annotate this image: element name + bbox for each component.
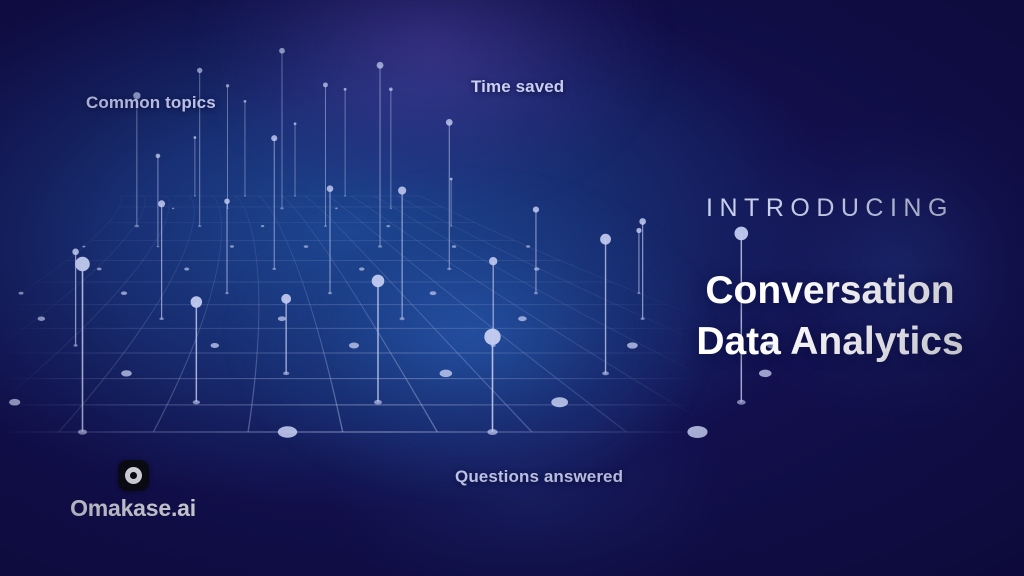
plane-dot <box>551 397 568 407</box>
stem-marker <box>226 84 229 87</box>
brand-name: Omakase.ai <box>48 497 218 520</box>
plane-dot <box>335 208 338 210</box>
plane-dot <box>344 195 346 196</box>
plane-dot <box>374 400 382 405</box>
plane-dot <box>450 225 452 226</box>
plane-dot <box>430 291 437 295</box>
plane-dot <box>135 225 140 228</box>
stem-marker <box>600 234 611 245</box>
stem-marker <box>323 82 328 87</box>
plane-dot <box>737 400 746 405</box>
plane-dot <box>518 316 527 321</box>
stem-marker <box>197 68 202 73</box>
stem-marker <box>191 296 203 308</box>
plane-dot <box>261 225 264 227</box>
plane-dot <box>324 225 327 227</box>
plane-dot <box>198 225 201 227</box>
plane-dot <box>378 245 382 248</box>
plane-dot <box>328 292 332 294</box>
plane-dot <box>244 195 246 196</box>
plane-dot <box>602 371 609 375</box>
plane-dot <box>294 195 296 196</box>
stem-marker <box>244 100 247 103</box>
plane-dot <box>283 372 289 376</box>
axis-label-questions-answered: Questions answered <box>455 467 623 487</box>
plane-dot <box>78 429 87 434</box>
stem-marker <box>344 88 347 91</box>
brand-logo[interactable]: Omakase.ai <box>48 460 218 520</box>
plane-dot <box>534 292 538 294</box>
slide-canvas: Common topics Time saved Questions answe… <box>0 0 1024 576</box>
logo-ring-outer <box>125 467 142 484</box>
headline-line-2: Data Analytics <box>660 316 1000 367</box>
plane-dot <box>637 292 640 294</box>
plane-dot <box>447 268 451 270</box>
stem-marker <box>636 228 641 233</box>
stem-marker <box>389 88 393 92</box>
stem-marker <box>639 218 646 225</box>
plot-svg <box>0 0 700 520</box>
plane-dot <box>687 426 707 438</box>
stem-marker <box>281 294 291 304</box>
stem-marker <box>377 62 384 69</box>
stem-marker <box>271 135 277 141</box>
plane-dot <box>526 245 530 247</box>
axis-label-common-topics: Common topics <box>86 93 216 113</box>
plane-dot <box>9 399 20 406</box>
plane-dot <box>304 245 309 248</box>
three-d-scatter-plot <box>0 0 700 520</box>
plane-dot <box>400 317 405 320</box>
stem-marker <box>279 48 285 54</box>
stem-marker <box>224 198 230 204</box>
logo-ring-center <box>130 472 137 479</box>
page-title: Conversation Data Analytics <box>660 265 1000 368</box>
plane-dot <box>74 344 78 346</box>
plane-dot <box>97 268 102 271</box>
plane-dot <box>627 342 638 348</box>
plane-dot <box>19 292 24 295</box>
plane-dot <box>759 370 772 377</box>
plane-dot <box>641 318 645 320</box>
plane-dot <box>452 245 457 248</box>
stem-marker <box>450 178 453 181</box>
eyebrow-text: INTRODUCING <box>660 196 1000 221</box>
plane-dot <box>534 267 540 270</box>
plane-dot <box>121 291 127 295</box>
stem-marker <box>294 122 297 125</box>
omakase-ring-icon <box>118 460 149 491</box>
headline-line-1: Conversation <box>660 265 1000 316</box>
plane-dot <box>194 195 196 196</box>
stem-marker <box>72 249 79 256</box>
plane-dot <box>156 246 159 248</box>
plane-dot <box>38 317 46 321</box>
plane-dot <box>193 400 200 404</box>
plane-dot <box>211 343 219 348</box>
plane-dot <box>440 370 453 377</box>
stem-marker <box>489 257 497 265</box>
stem-marker <box>158 200 165 207</box>
plane-dot <box>487 429 497 435</box>
plane-dot <box>278 316 286 321</box>
stem-marker <box>194 136 197 139</box>
stem-marker <box>372 275 385 288</box>
plane-dot <box>280 207 284 209</box>
plane-dot <box>172 208 174 210</box>
plane-dot <box>390 208 392 209</box>
stem-marker <box>327 185 334 192</box>
plane-dot <box>386 225 390 227</box>
intro-text-panel: INTRODUCING Conversation Data Analytics <box>660 196 1000 368</box>
plane-dot <box>82 246 85 248</box>
stem-marker <box>533 206 539 212</box>
plane-dot <box>278 426 297 437</box>
axis-label-time-saved: Time saved <box>471 77 564 97</box>
plane-dot <box>184 268 189 271</box>
plane-dot <box>359 267 365 270</box>
plane-dot <box>230 245 234 247</box>
stem-marker <box>484 329 500 345</box>
stem-marker <box>75 257 90 272</box>
stem-marker <box>156 154 161 159</box>
stem-marker <box>398 186 406 194</box>
plane-dot <box>349 343 359 349</box>
plane-dot <box>272 268 276 270</box>
plane-dot <box>159 317 163 320</box>
stem-marker <box>446 119 453 126</box>
plane-dot <box>121 370 132 376</box>
plane-dot <box>225 292 229 294</box>
